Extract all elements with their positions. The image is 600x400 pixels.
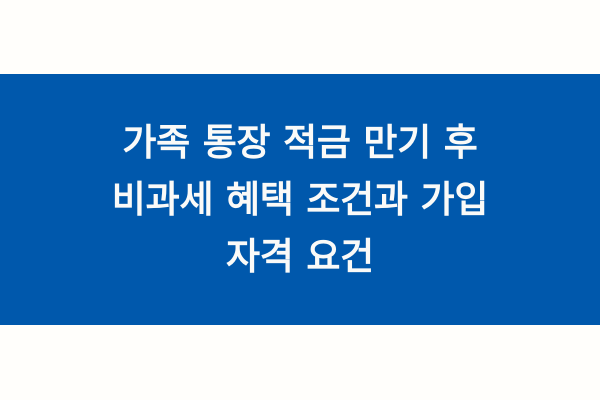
banner-title-line-1: 가족 통장 적금 만기 후 [14,114,586,171]
banner-title: 가족 통장 적금 만기 후 비과세 혜택 조건과 가입 자격 요건 [0,114,600,285]
banner-title-line-2: 비과세 혜택 조건과 가입 [14,171,586,228]
blue-banner: 가족 통장 적금 만기 후 비과세 혜택 조건과 가입 자격 요건 [0,74,600,325]
top-margin-strip [0,0,600,74]
thumbnail-canvas: 가족 통장 적금 만기 후 비과세 혜택 조건과 가입 자격 요건 [0,0,600,400]
bottom-margin-strip [0,325,600,400]
banner-title-line-3: 자격 요건 [14,228,586,285]
